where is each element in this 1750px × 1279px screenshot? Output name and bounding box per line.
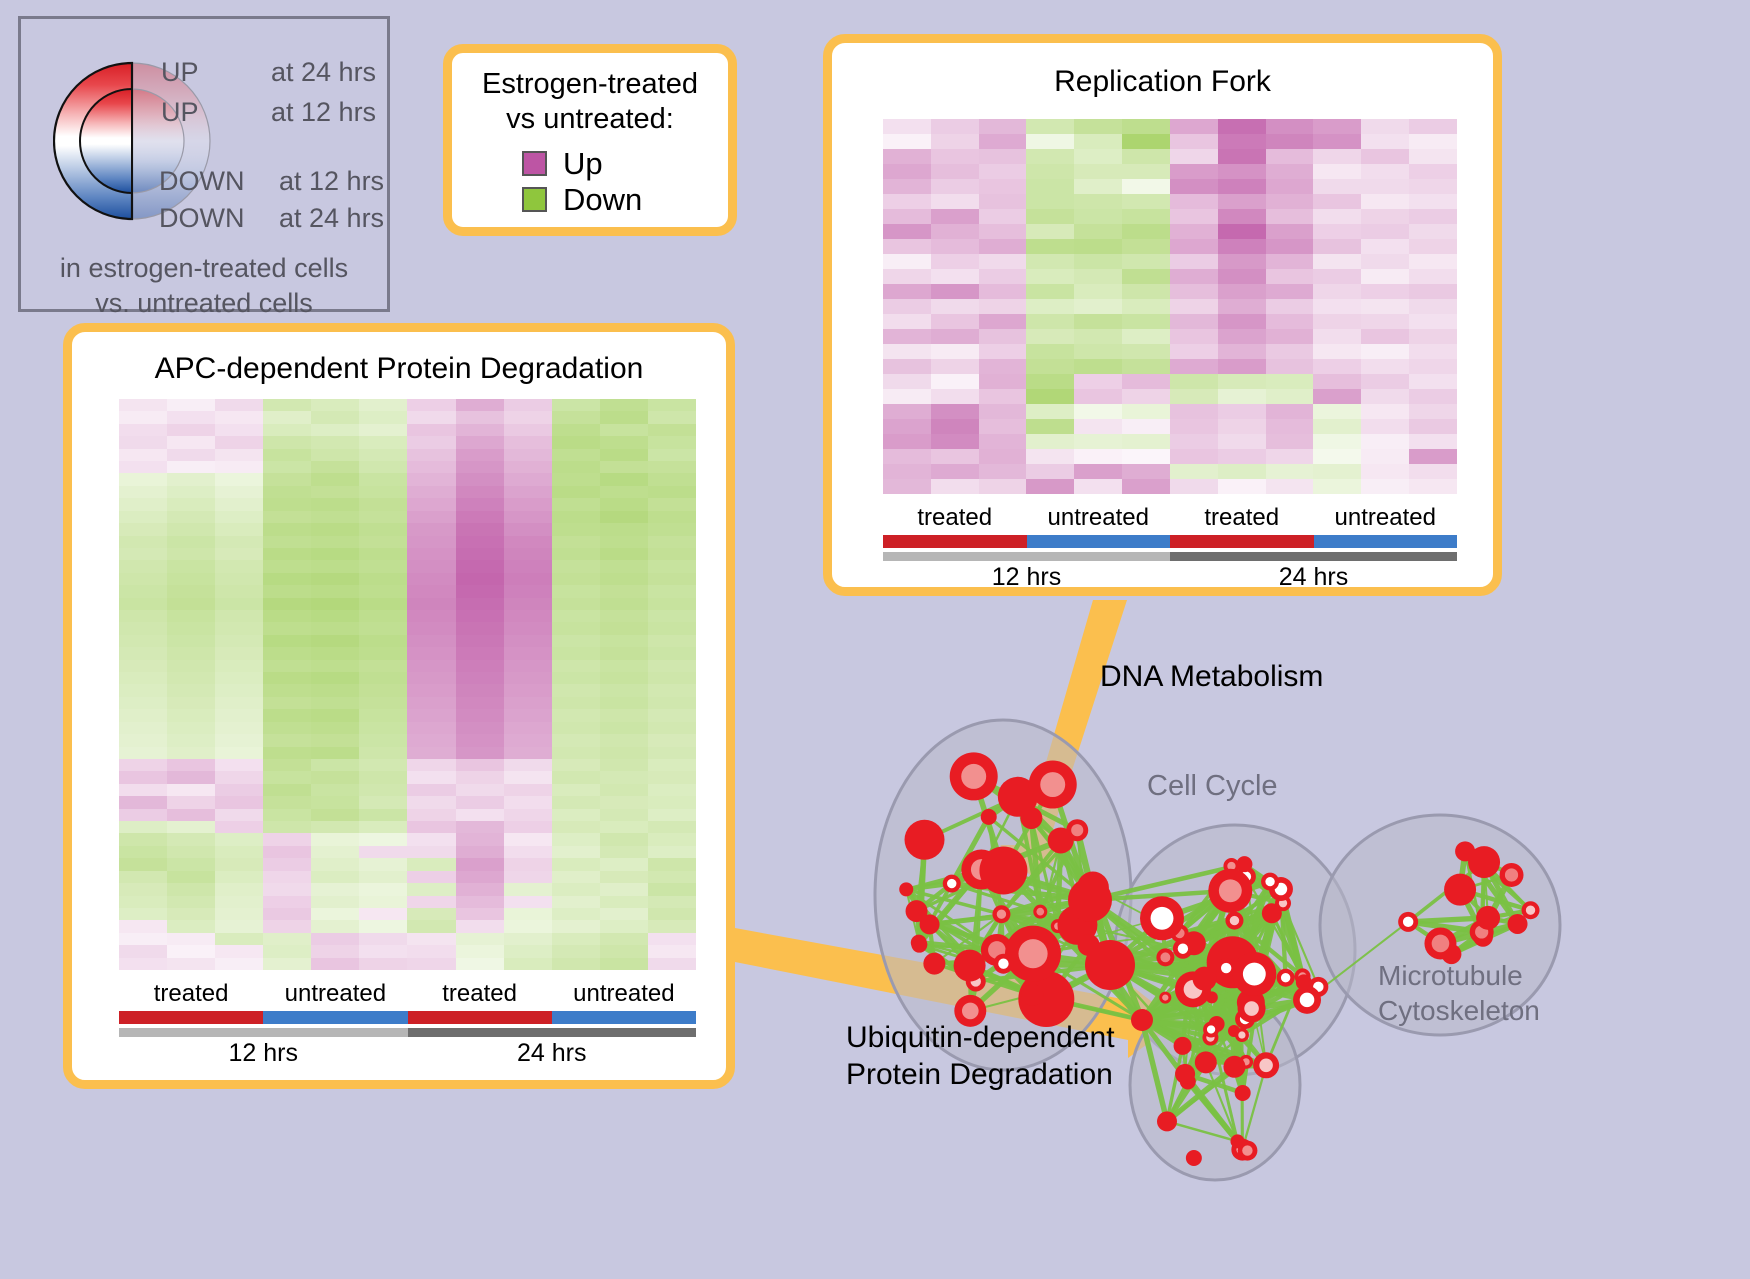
network-node[interactable] — [992, 905, 1010, 923]
network-node[interactable] — [1005, 926, 1061, 982]
network-node[interactable] — [950, 752, 998, 800]
network-node[interactable] — [1175, 1064, 1195, 1084]
network-node[interactable] — [1186, 1150, 1202, 1166]
network-node[interactable] — [1508, 914, 1528, 934]
network-node[interactable] — [1085, 940, 1135, 990]
network-node[interactable] — [1444, 874, 1476, 906]
network-node[interactable] — [923, 953, 945, 975]
network-node[interactable] — [979, 847, 1027, 895]
network-node[interactable] — [1398, 912, 1418, 932]
network-node[interactable] — [899, 882, 913, 896]
network-node[interactable] — [943, 875, 961, 893]
network-node[interactable] — [1193, 967, 1217, 991]
network-node[interactable] — [1293, 986, 1321, 1014]
network-node[interactable] — [1238, 995, 1266, 1023]
cluster-label-dna-metabolism: DNA Metabolism — [1100, 660, 1323, 694]
network-node[interactable] — [1232, 952, 1276, 996]
network-node[interactable] — [1296, 974, 1312, 990]
network-node[interactable] — [1048, 827, 1074, 853]
network-node[interactable] — [1195, 1051, 1217, 1073]
network-node[interactable] — [911, 937, 927, 953]
network-node[interactable] — [1173, 939, 1193, 959]
ubiquitin-line2: Protein Degradation — [846, 1057, 1115, 1094]
network-node[interactable] — [1159, 992, 1171, 1004]
network-node[interactable] — [1225, 912, 1243, 930]
network-node[interactable] — [1068, 878, 1112, 922]
network-node[interactable] — [1277, 969, 1295, 987]
cluster-label-microtubule-cytoskeleton: Microtubule Cytoskeleton — [1378, 958, 1540, 1028]
microtubule-line2: Cytoskeleton — [1378, 993, 1540, 1028]
network-node[interactable] — [1235, 1085, 1251, 1101]
network-node[interactable] — [1522, 901, 1540, 919]
network-node[interactable] — [1033, 905, 1047, 919]
network-node[interactable] — [1131, 1009, 1153, 1031]
network-node[interactable] — [1020, 807, 1042, 829]
network-node[interactable] — [1021, 984, 1043, 1006]
cluster-label-ubiquitin-dependent: Ubiquitin-dependent Protein Degradation — [846, 1020, 1115, 1093]
cluster-label-cell-cycle: Cell Cycle — [1147, 770, 1278, 803]
network-node[interactable] — [1203, 1021, 1219, 1037]
network-node[interactable] — [1424, 927, 1456, 959]
network-node[interactable] — [1261, 873, 1279, 891]
network-node[interactable] — [1029, 761, 1077, 809]
network-node[interactable] — [1476, 906, 1500, 930]
network-node[interactable] — [1500, 863, 1524, 887]
network-node[interactable] — [1253, 1052, 1279, 1078]
network-node[interactable] — [1208, 869, 1252, 913]
network-node[interactable] — [1174, 1037, 1192, 1055]
network-graph: DNA Metabolism Cell Cycle Microtubule Cy… — [790, 620, 1750, 1279]
network-node[interactable] — [1157, 1111, 1177, 1131]
network-node[interactable] — [1156, 948, 1174, 966]
network-node[interactable] — [905, 820, 945, 860]
network-node[interactable] — [1235, 1028, 1249, 1042]
microtubule-line1: Microtubule — [1378, 958, 1540, 993]
network-node[interactable] — [1140, 896, 1184, 940]
network-node[interactable] — [954, 950, 986, 982]
network-node[interactable] — [1223, 1056, 1245, 1078]
ubiquitin-line1: Ubiquitin-dependent — [846, 1020, 1115, 1057]
network-node[interactable] — [1468, 846, 1500, 878]
network-node[interactable] — [1236, 856, 1252, 872]
network-node[interactable] — [993, 954, 1013, 974]
network-node[interactable] — [906, 900, 928, 922]
network-node[interactable] — [1237, 1141, 1257, 1161]
network-node[interactable] — [981, 809, 997, 825]
